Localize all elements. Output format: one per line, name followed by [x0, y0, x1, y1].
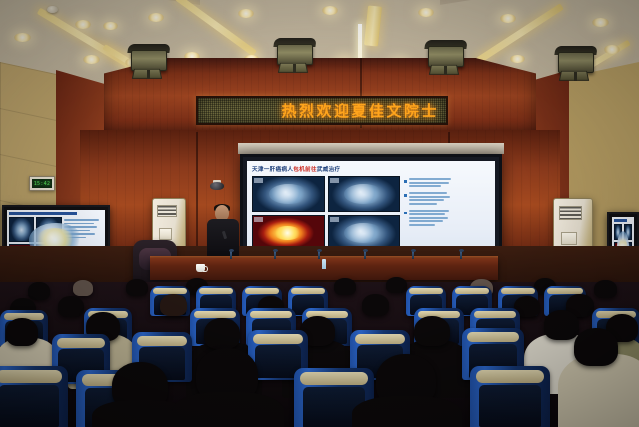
audience-head	[362, 294, 389, 316]
audience-shoulders	[352, 396, 462, 427]
led-welcome-banner: 热烈欢迎夏佳文院士	[196, 96, 448, 125]
ceiling-downlight	[103, 22, 118, 30]
audience-head	[58, 296, 84, 317]
audience-shoulders	[172, 392, 284, 427]
slide-title-part2: 武威治疗	[317, 167, 341, 173]
spotlight-arm	[147, 70, 150, 79]
clock-lcd: 15:42	[32, 179, 52, 188]
audience-head	[160, 294, 187, 316]
spotlight-arm	[444, 66, 447, 75]
ceiling-downlight	[604, 45, 620, 54]
ceiling-downlight	[418, 8, 434, 17]
ac-display-panel	[159, 228, 172, 240]
ceiling-downlight	[500, 14, 516, 23]
audience-head	[204, 318, 240, 349]
clock-digits: 15:42	[34, 181, 51, 187]
stage-spotlight[interactable]	[553, 44, 599, 78]
auditorium-seat	[470, 366, 550, 427]
dome-camera-icon	[210, 180, 224, 190]
bullet-marker	[404, 212, 407, 215]
bullet-marker	[404, 194, 407, 197]
slide-bullet	[404, 192, 490, 205]
slide-bullet	[404, 210, 490, 226]
audience-head	[574, 328, 618, 366]
presenter	[206, 205, 240, 257]
ac-grille	[559, 206, 583, 220]
stage-spotlight[interactable]	[126, 42, 172, 76]
desk-microphone-icon	[460, 251, 462, 259]
spotlight-arm	[293, 64, 296, 73]
presentation-slide: 天津一肝癌病人包机前往武威治疗	[247, 161, 495, 257]
monitor-slide-title	[614, 219, 627, 222]
smoke-detector-icon	[47, 6, 58, 13]
audience-seating-area	[0, 282, 639, 427]
bullet-marker	[404, 180, 407, 183]
audience-head	[414, 316, 450, 346]
ceiling-downlight	[510, 55, 525, 63]
bullet-text	[409, 178, 451, 187]
wall-digital-clock: 15:42	[29, 176, 55, 191]
audience-head	[126, 279, 148, 296]
desk-microphone-icon	[412, 251, 414, 259]
led-banner-text: 热烈欢迎夏佳文院士	[281, 100, 446, 121]
desk-microphone-icon	[318, 251, 320, 259]
ct-image	[328, 176, 401, 212]
ct-annotation	[330, 178, 339, 183]
spotlight-body	[277, 44, 313, 65]
bullet-text	[409, 210, 449, 226]
audience-head	[6, 318, 38, 346]
audience-head	[594, 280, 617, 298]
tea-cup	[196, 264, 205, 272]
audience-head	[386, 277, 407, 293]
desk-microphone-icon	[230, 251, 232, 259]
spotlight-body	[428, 46, 464, 67]
spotlight-body	[131, 50, 167, 71]
water-bottle	[322, 259, 326, 269]
stage-spotlight[interactable]	[272, 36, 318, 70]
ceiling-downlight	[238, 9, 254, 18]
ct-annotation	[254, 178, 263, 183]
audience-head	[28, 282, 50, 300]
bullet-text	[409, 192, 450, 205]
spotlight-body	[558, 52, 594, 73]
projection-screen-housing	[238, 143, 504, 154]
slide-title-part1: 天津一肝癌病人	[252, 167, 293, 173]
audience-head	[73, 280, 93, 296]
slide-title: 天津一肝癌病人包机前往武威治疗	[252, 165, 490, 173]
monitor-slide-title	[9, 212, 77, 215]
slide-bullet-list	[404, 176, 490, 251]
desk-microphone-icon	[364, 251, 366, 259]
camera-dome	[210, 182, 224, 190]
ceiling-downlight	[322, 6, 338, 15]
ceiling-downlight	[75, 20, 91, 29]
audience-head	[334, 278, 356, 295]
slide-body	[252, 176, 490, 251]
ceiling-downlight	[83, 55, 100, 64]
slide-title-highlight: 包机前往	[293, 167, 317, 173]
stage-spotlight[interactable]	[423, 38, 469, 72]
wall-seam	[196, 132, 198, 252]
ceiling-downlight	[148, 13, 164, 22]
ceiling-downlight	[592, 18, 609, 27]
ac-display-panel	[561, 232, 577, 246]
slide-bullet	[404, 178, 490, 187]
desk-microphone-icon	[274, 251, 276, 259]
ct-annotation	[254, 217, 263, 222]
ac-grille	[157, 205, 177, 217]
ct-annotation	[330, 217, 339, 222]
ct-image	[252, 176, 325, 212]
auditorium-seat	[0, 366, 68, 427]
audience-head	[544, 310, 579, 340]
spotlight-arm	[574, 72, 577, 81]
ceiling-downlight	[14, 33, 31, 42]
medical-image-grid	[252, 176, 400, 251]
lecture-hall-photo: 热烈欢迎夏佳文院士 15:42 天津一肝癌病人包机前往武威治疗	[0, 0, 639, 427]
